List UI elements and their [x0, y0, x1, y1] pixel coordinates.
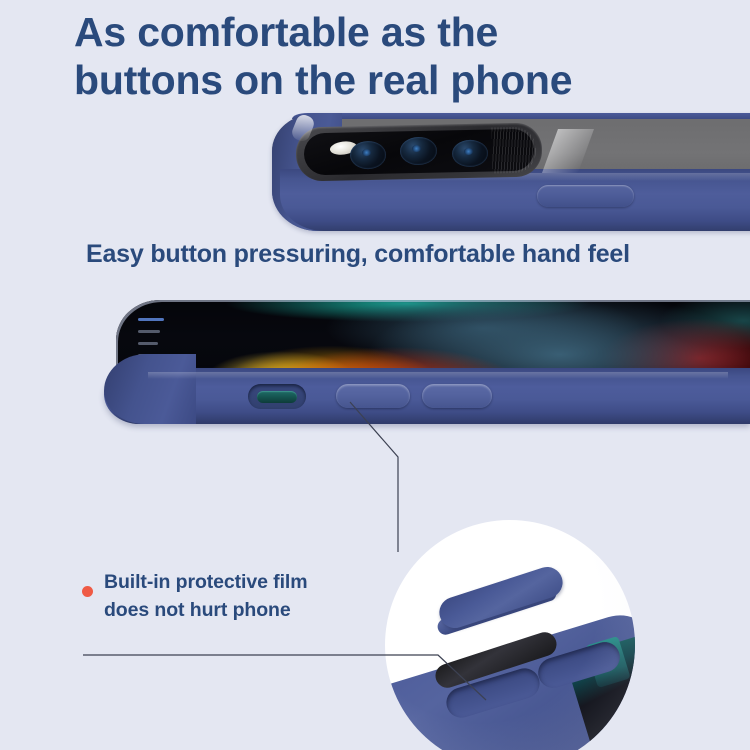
- volume-up-button: [336, 384, 410, 408]
- headline-line-1: As comfortable as the: [74, 8, 694, 56]
- case-gloss-middle: [148, 372, 728, 379]
- sub-caption: Easy button pressuring, comfortable hand…: [86, 240, 630, 269]
- camera-module-ridges: [492, 127, 537, 174]
- headline-line-2: buttons on the real phone: [74, 56, 694, 104]
- camera-lens-1: [350, 141, 387, 170]
- camera-lens-2: [400, 137, 438, 166]
- mute-switch-cutout: [248, 384, 306, 409]
- top-phone-figure: [272, 113, 750, 238]
- page-headline: As comfortable as the buttons on the rea…: [74, 8, 694, 105]
- camera-lens-3: [452, 140, 489, 168]
- camera-module: [295, 122, 542, 181]
- case-left-corner-middle: [104, 354, 196, 424]
- bottom-caption-line-2: does not hurt phone: [104, 596, 307, 624]
- magnifier-detail-circle: [385, 520, 635, 750]
- bottom-caption: Built-in protective film does not hurt p…: [104, 568, 307, 625]
- button-cap: [435, 563, 566, 632]
- middle-phone-figure: [104, 300, 750, 425]
- case-top-rim: [292, 113, 750, 119]
- bottom-caption-line-1: Built-in protective film: [104, 568, 307, 596]
- product-marketing-image: As comfortable as the buttons on the rea…: [0, 0, 750, 750]
- caption-bullet-icon: [82, 586, 93, 597]
- case-side-button: [537, 185, 634, 207]
- volume-down-button: [422, 384, 492, 408]
